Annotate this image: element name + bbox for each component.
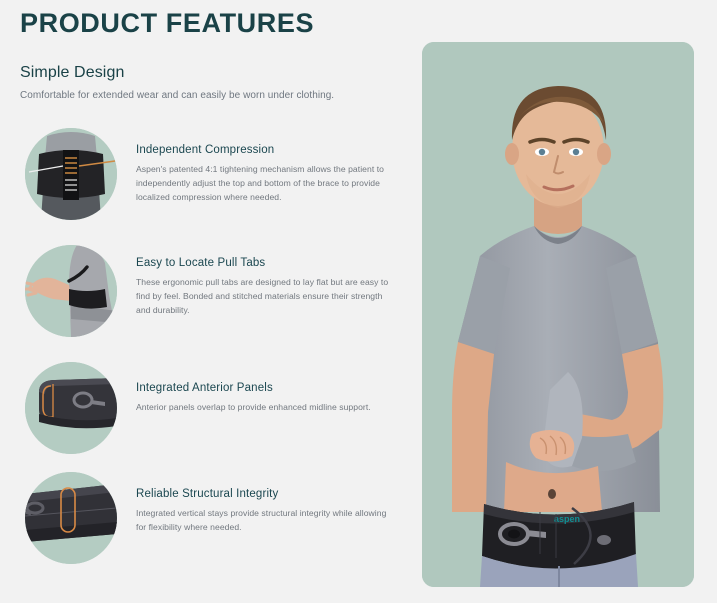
feature-text-easy-to-locate-pull-tabs: Easy to Locate Pull Tabs These ergonomic…: [136, 257, 398, 318]
hero-product-photo: aspen: [422, 42, 694, 587]
feature-body: Anterior panels overlap to provide enhan…: [136, 401, 398, 415]
feature-item-integrated-anterior-panels: Integrated Anterior Panels Anterior pane…: [0, 356, 410, 466]
product-features-page: PRODUCT FEATURES Simple Design Comfortab…: [0, 0, 717, 603]
feature-heading: Integrated Anterior Panels: [136, 382, 398, 394]
section-subtitle: Comfortable for extended wear and can ea…: [20, 90, 334, 101]
feature-list: Independent Compression Aspen's patented…: [0, 122, 410, 576]
feature-text-independent-compression: Independent Compression Aspen's patented…: [136, 144, 398, 205]
feature-thumbnail-independent-compression: [25, 128, 117, 220]
feature-item-easy-to-locate-pull-tabs: Easy to Locate Pull Tabs These ergonomic…: [0, 239, 410, 356]
feature-body: Integrated vertical stays provide struct…: [136, 507, 398, 535]
section-title: Simple Design: [20, 64, 124, 82]
feature-text-reliable-structural-integrity: Reliable Structural Integrity Integrated…: [136, 488, 398, 535]
feature-heading: Easy to Locate Pull Tabs: [136, 257, 398, 269]
page-title: PRODUCT FEATURES: [20, 8, 314, 39]
feature-body: These ergonomic pull tabs are designed t…: [136, 276, 398, 318]
feature-item-reliable-structural-integrity: Reliable Structural Integrity Integrated…: [0, 466, 410, 576]
feature-text-integrated-anterior-panels: Integrated Anterior Panels Anterior pane…: [136, 382, 398, 415]
brace-logo-text: aspen: [554, 514, 580, 524]
feature-heading: Independent Compression: [136, 144, 398, 156]
feature-thumbnail-easy-to-locate-pull-tabs: [25, 245, 117, 337]
feature-body: Aspen's patented 4:1 tightening mechanis…: [136, 163, 398, 205]
feature-heading: Reliable Structural Integrity: [136, 488, 398, 500]
feature-thumbnail-integrated-anterior-panels: [25, 362, 117, 454]
feature-item-independent-compression: Independent Compression Aspen's patented…: [0, 122, 410, 239]
feature-thumbnail-reliable-structural-integrity: [25, 472, 117, 564]
